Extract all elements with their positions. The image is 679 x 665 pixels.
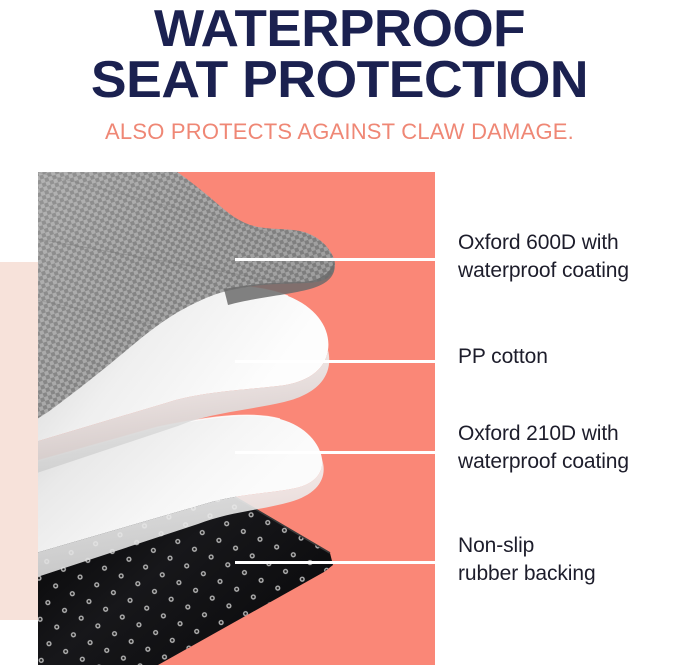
label-oxford-600d: Oxford 600D with waterproof coating xyxy=(458,229,629,284)
leader-line-oxford-210d xyxy=(235,451,436,454)
headline-line-1: WATERPROOF xyxy=(0,0,679,55)
layer-cutaway-illustration xyxy=(38,172,435,665)
infographic-page: WATERPROOF SEAT PROTECTION ALSO PROTECTS… xyxy=(0,0,679,665)
label-pp-cotton: PP cotton xyxy=(458,343,548,371)
leader-line-rubber-backing xyxy=(235,561,436,564)
headline-block: WATERPROOF SEAT PROTECTION xyxy=(0,0,679,106)
label-rubber-backing: Non-slip rubber backing xyxy=(458,532,596,587)
blush-accent-panel xyxy=(0,262,38,620)
layer-shape-oxford-600d xyxy=(38,172,435,665)
label-oxford-210d: Oxford 210D with waterproof coating xyxy=(458,420,629,475)
leader-line-pp-cotton xyxy=(235,360,436,363)
subheadline: ALSO PROTECTS AGAINST CLAW DAMAGE. xyxy=(0,119,679,145)
leader-line-oxford-600d xyxy=(235,258,436,261)
headline-line-2: SEAT PROTECTION xyxy=(0,55,679,106)
